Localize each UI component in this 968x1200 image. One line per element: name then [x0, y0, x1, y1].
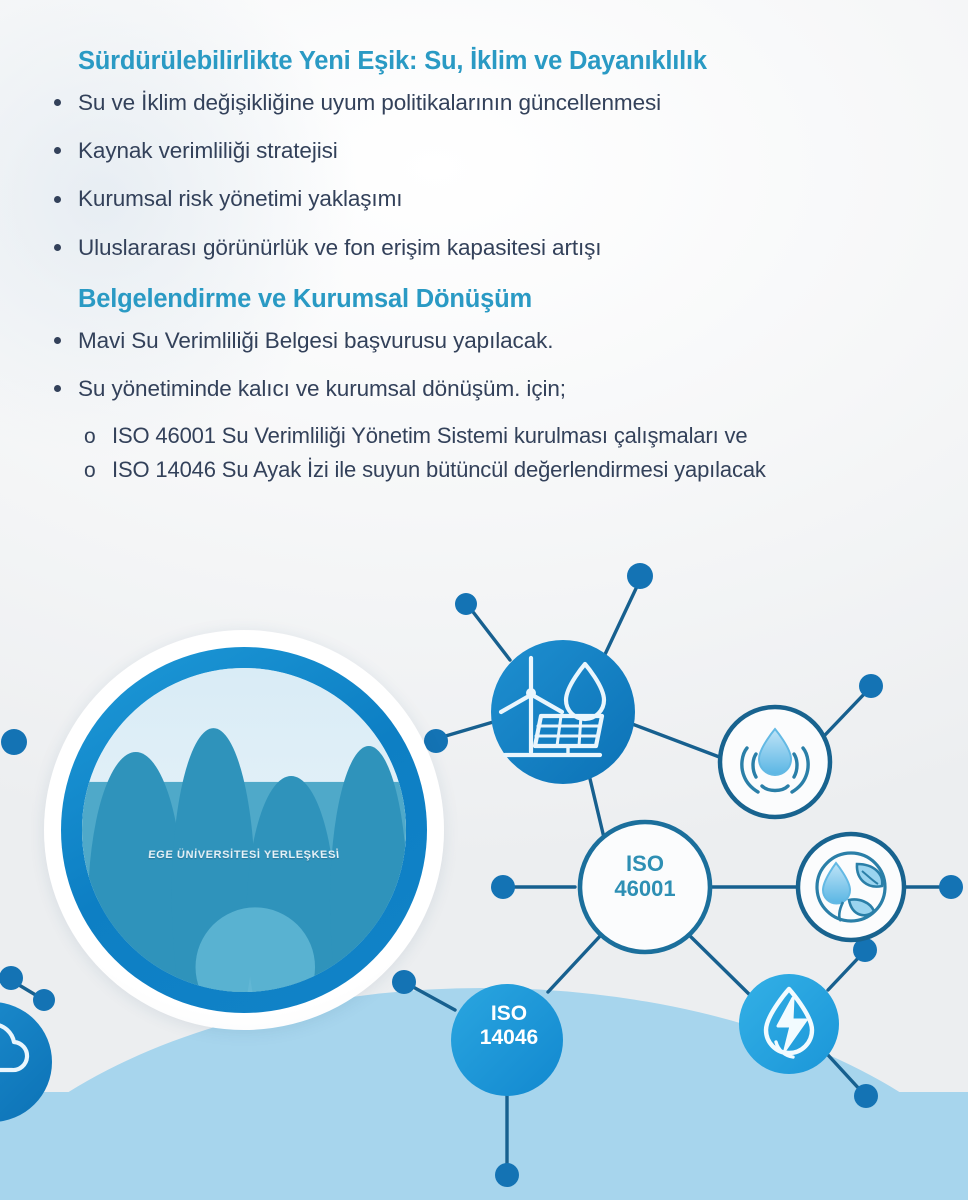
network-diagram: EGE ÜNİVERSİTESİ YERLEŞKESİ ISO 46001 IS… [0, 530, 968, 1200]
bullet-text: Kaynak verimliliği stratejisi [78, 138, 338, 163]
sub-bullet-marker-icon: o [84, 458, 96, 485]
bullet-dot-icon [54, 244, 61, 251]
list-item: Uluslararası görünürlük ve fon erişim ka… [44, 233, 928, 262]
section-certification: Belgelendirme ve Kurumsal Dönüşüm Mavi S… [44, 284, 928, 485]
connector-dot [627, 563, 653, 589]
list-item: Kurumsal risk yönetimi yaklaşımı [44, 184, 928, 213]
connector-dot [455, 593, 477, 615]
list-item: Kaynak verimliliği stratejisi [44, 136, 928, 165]
node-iso-14046[interactable] [451, 984, 563, 1096]
sub-bullet-marker-icon: o [84, 424, 96, 451]
bullet-text: Kurumsal risk yönetimi yaklaşımı [78, 186, 402, 211]
text-content-block: Sürdürülebilirlikte Yeni Eşik: Su, İklim… [0, 0, 968, 491]
list-item: Su ve İklim değişikliğine uyum politikal… [44, 88, 928, 117]
node-renewable-energy[interactable] [491, 640, 635, 784]
bullet-text: Mavi Su Verimliliği Belgesi başvurusu ya… [78, 328, 553, 353]
connector-dot [854, 1084, 878, 1108]
bullet-dot-icon [54, 337, 61, 344]
node-hydro-energy[interactable] [739, 974, 839, 1074]
bullet-dot-icon [54, 99, 61, 106]
connector-dot [491, 875, 515, 899]
node-water-earth-leaf[interactable] [798, 834, 904, 940]
list-item: Mavi Su Verimliliği Belgesi başvurusu ya… [44, 326, 928, 355]
connector-dot [1, 729, 27, 755]
list-item: Su yönetiminde kalıcı ve kurumsal dönüşü… [44, 374, 928, 403]
connector-dot [939, 875, 963, 899]
sub-bullet-text: ISO 46001 Su Verimliliği Yönetim Sistemi… [112, 423, 747, 448]
bullet-dot-icon [54, 196, 61, 203]
bullet-text: Su yönetiminde kalıcı ve kurumsal dönüşü… [78, 376, 566, 401]
photo-image: EGE ÜNİVERSİTESİ YERLEŞKESİ [82, 668, 406, 992]
connector-dot [495, 1163, 519, 1187]
section-title-certification: Belgelendirme ve Kurumsal Dönüşüm [78, 284, 928, 316]
connector-dot [859, 674, 883, 698]
bullet-text: Uluslararası görünürlük ve fon erişim ka… [78, 235, 601, 260]
node-iso-46001[interactable] [580, 822, 710, 952]
list-item: o ISO 14046 Su Ayak İzi ile suyun bütünc… [74, 456, 928, 484]
campus-photo-circle[interactable]: EGE ÜNİVERSİTESİ YERLEŞKESİ [44, 630, 444, 1030]
bullet-list-certification: Mavi Su Verimliliği Belgesi başvurusu ya… [44, 326, 928, 404]
node-water-care[interactable] [720, 707, 830, 817]
connector-dot [0, 966, 23, 990]
bullet-text: Su ve İklim değişikliğine uyum politikal… [78, 90, 661, 115]
sub-bullet-text: ISO 14046 Su Ayak İzi ile suyun bütüncül… [112, 457, 766, 482]
section-sustainability: Sürdürülebilirlikte Yeni Eşik: Su, İklim… [44, 46, 928, 262]
list-item: o ISO 46001 Su Verimliliği Yönetim Siste… [74, 422, 928, 450]
slide-canvas: Sürdürülebilirlikte Yeni Eşik: Su, İklim… [0, 0, 968, 1200]
bullet-dot-icon [54, 147, 61, 154]
sub-bullet-list-iso: o ISO 46001 Su Verimliliği Yönetim Siste… [44, 422, 928, 484]
bullet-dot-icon [54, 385, 61, 392]
bullet-list-sustainability: Su ve İklim değişikliğine uyum politikal… [44, 88, 928, 262]
section-title-sustainability: Sürdürülebilirlikte Yeni Eşik: Su, İklim… [78, 46, 928, 78]
